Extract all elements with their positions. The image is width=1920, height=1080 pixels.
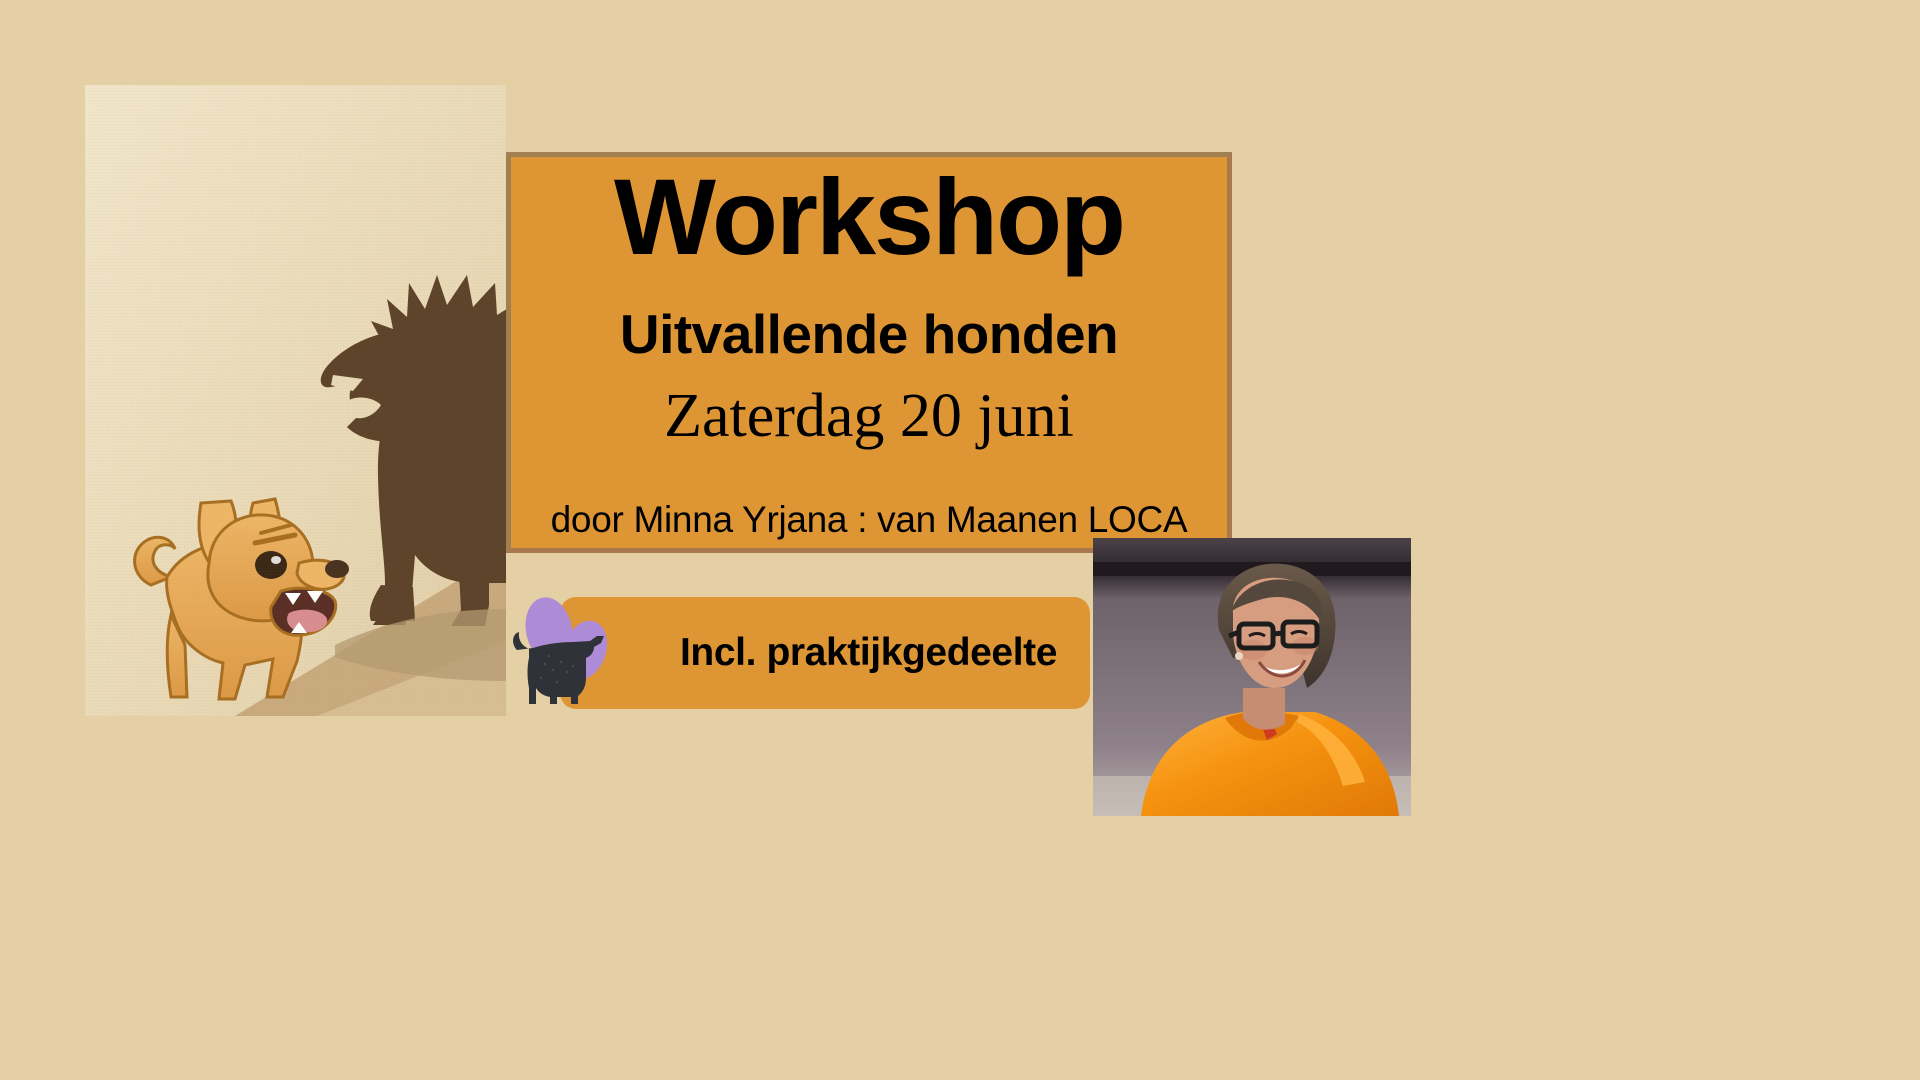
workshop-info-card: Workshop Uitvallende honden Zaterdag 20 … — [506, 152, 1232, 553]
page-title: Workshop — [511, 163, 1227, 271]
practice-banner: Incl. praktijkgedeelte — [560, 597, 1090, 709]
workshop-presenter: door Minna Yrjana : van Maanen LOCA — [511, 501, 1227, 540]
presenter-photo — [1093, 538, 1411, 816]
workshop-subtitle: Uitvallende honden — [511, 307, 1227, 362]
illustration-grain-overlay — [85, 85, 506, 716]
dog-paw-artwork — [505, 592, 620, 712]
poster-canvas: Workshop Uitvallende honden Zaterdag 20 … — [0, 0, 1920, 1080]
workshop-date: Zaterdag 20 juni — [511, 385, 1227, 447]
chihuahua-lion-shadow-illustration — [85, 85, 506, 716]
practice-banner-label: Incl. praktijkgedeelte — [680, 597, 1057, 709]
dog-silhouette-with-paw-icon — [505, 592, 620, 712]
presenter-photo-artwork — [1093, 538, 1411, 816]
